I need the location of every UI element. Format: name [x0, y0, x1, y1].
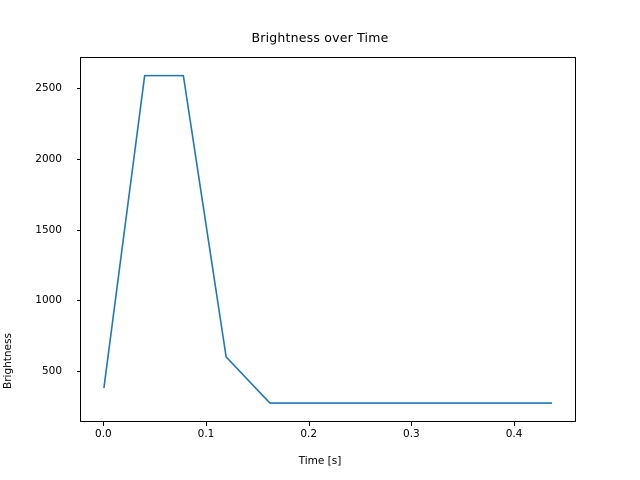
xtick-mark-2: [309, 422, 310, 426]
ytick-mark-4: [77, 88, 81, 89]
xtick-label-2: 0.2: [300, 428, 317, 440]
ytick-label-2: 1500: [35, 224, 62, 236]
plot-axes: [80, 57, 576, 422]
xtick-mark-3: [411, 422, 412, 426]
x-axis-title: Time [s]: [0, 455, 640, 467]
xtick-label-1: 0.1: [198, 428, 215, 440]
xtick-mark-4: [514, 422, 515, 426]
ytick-label-0: 500: [42, 365, 62, 377]
xtick-mark-1: [206, 422, 207, 426]
line-plot: [81, 58, 575, 421]
ytick-mark-1: [77, 300, 81, 301]
y-axis-title-wrap: Brightness: [0, 150, 20, 330]
brightness-line-series: [104, 76, 552, 403]
ytick-mark-3: [77, 159, 81, 160]
ytick-mark-0: [77, 371, 81, 372]
xtick-label-3: 0.3: [403, 428, 420, 440]
xtick-label-0: 0.0: [95, 428, 112, 440]
y-axis-title: Brightness: [2, 271, 14, 451]
ytick-label-1: 1000: [35, 294, 62, 306]
xtick-label-4: 0.4: [506, 428, 523, 440]
ytick-label-3: 2000: [35, 153, 62, 165]
xtick-mark-0: [103, 422, 104, 426]
chart-title: Brightness over Time: [0, 30, 640, 45]
ytick-label-4: 2500: [35, 82, 62, 94]
ytick-mark-2: [77, 230, 81, 231]
figure-canvas: Brightness over Time 0.0 0.1 0.2 0.3 0.4…: [0, 0, 640, 480]
